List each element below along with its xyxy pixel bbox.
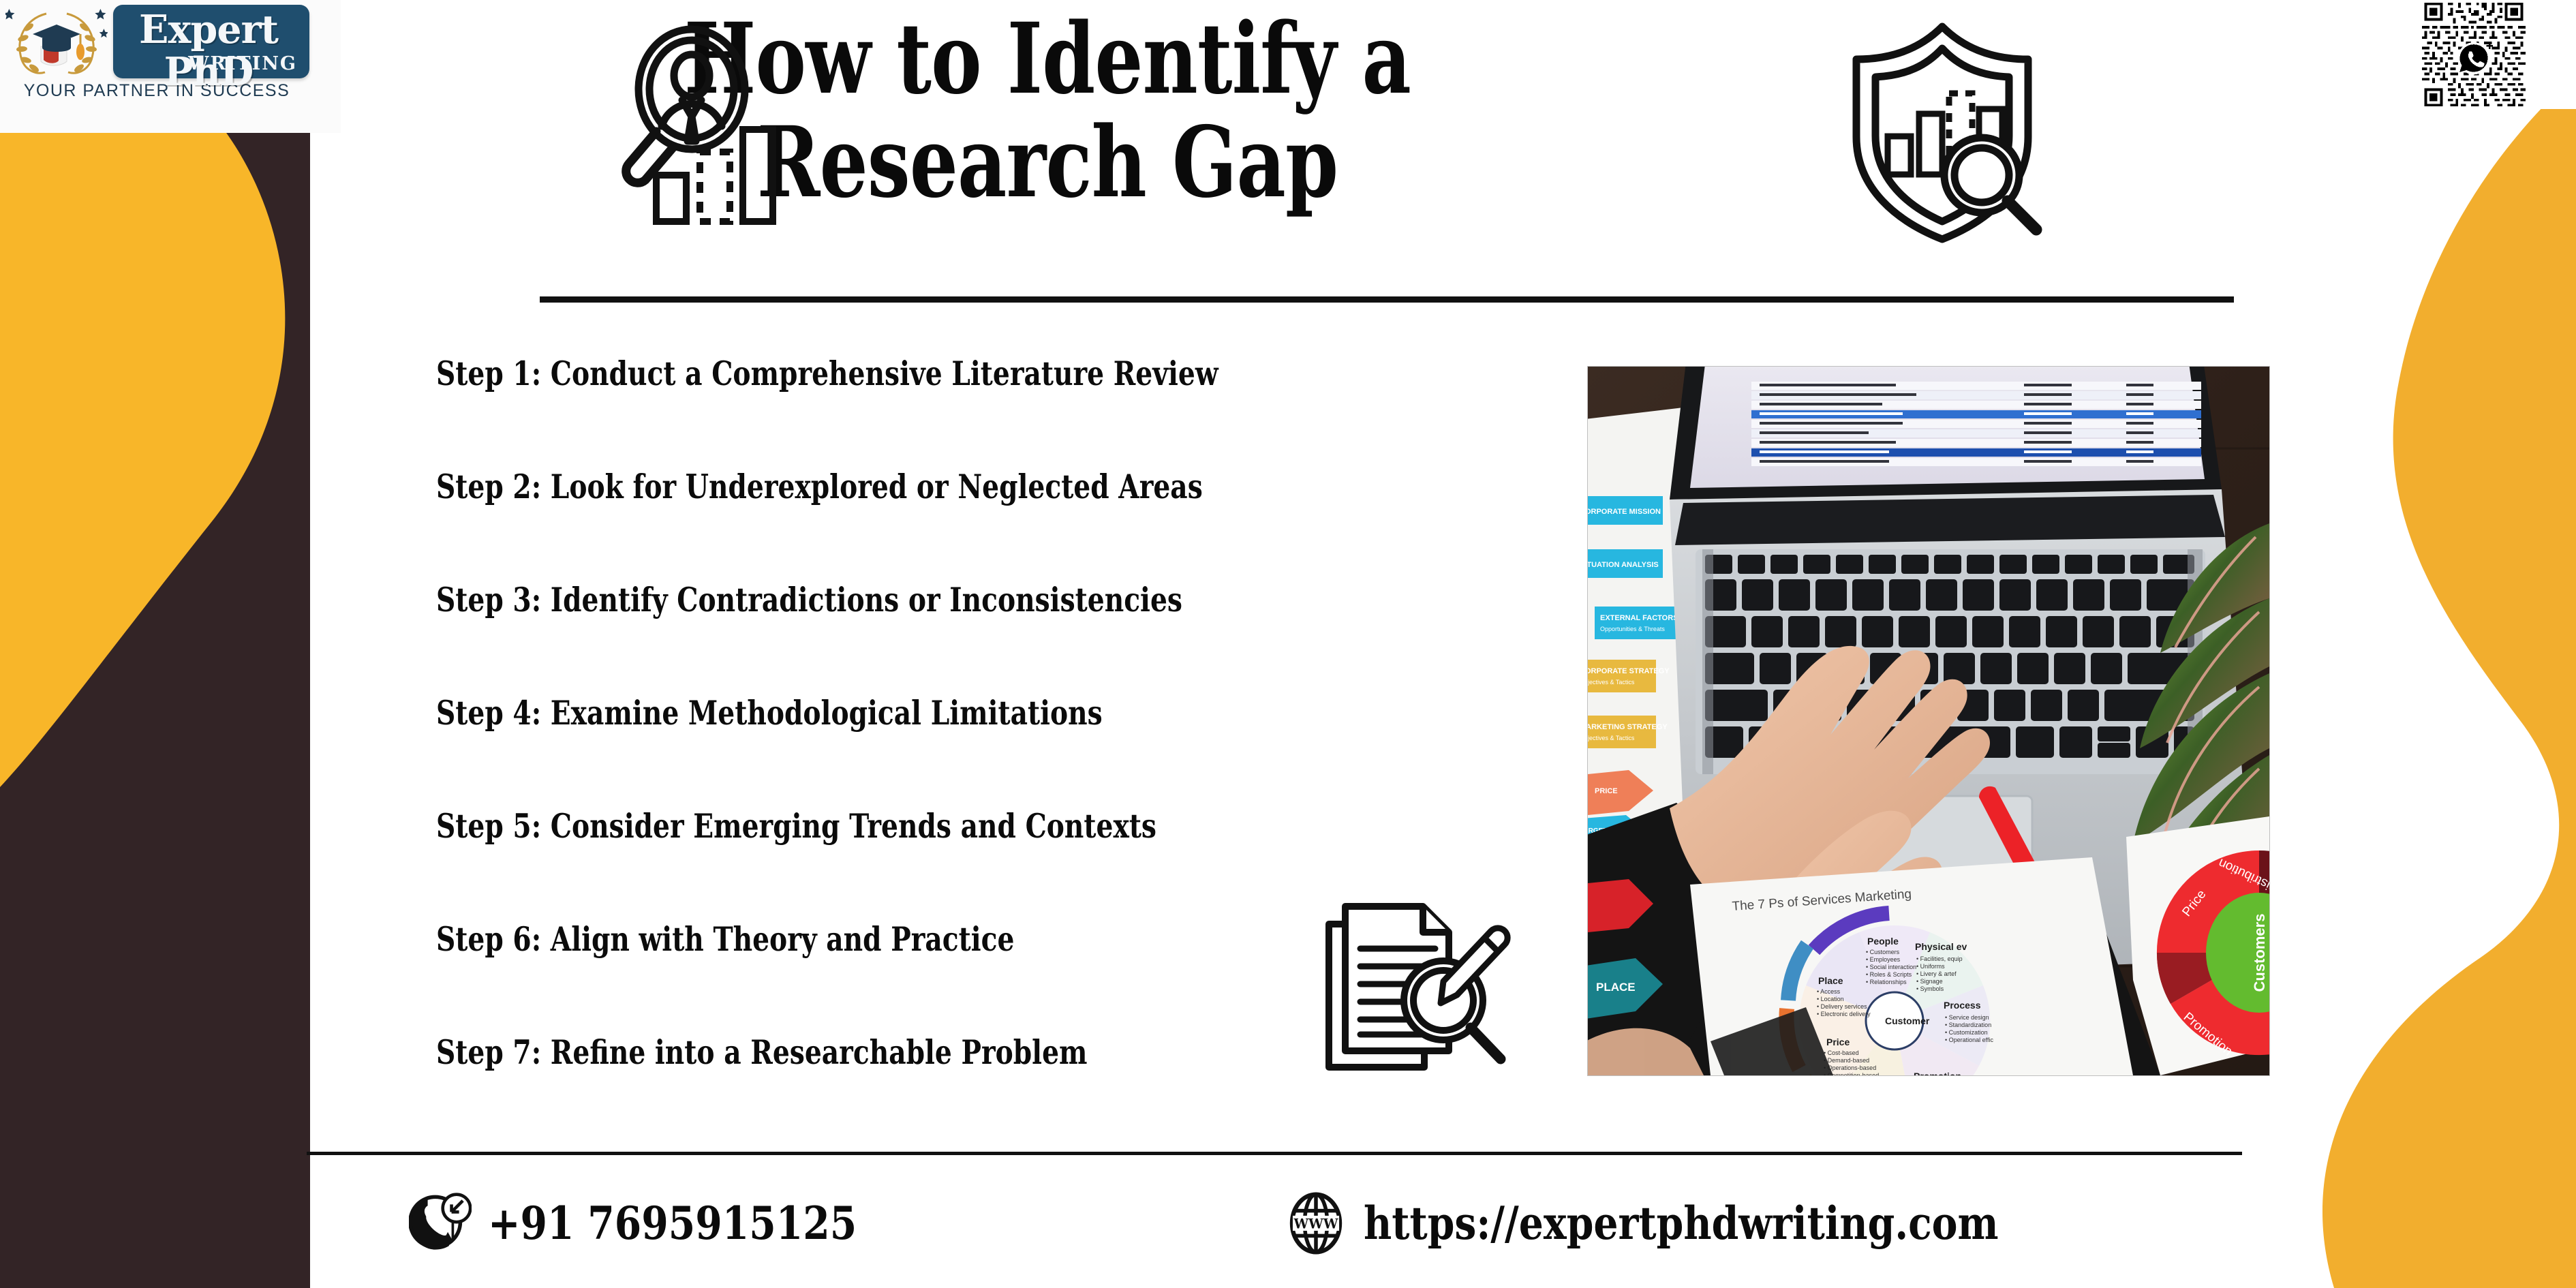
svg-text:• Social interaction: • Social interaction (1866, 964, 1916, 970)
shield-bar-chart-magnifier-icon (1833, 17, 2051, 249)
magnifier-person-bar-chart-gap-icon (617, 24, 794, 235)
graduation-cap-laurel-wreath-icon (5, 4, 108, 79)
step-item-1: Step 1: Conduct a Comprehensive Literatu… (436, 354, 1319, 467)
svg-text:• Standardization: • Standardization (1945, 1022, 1991, 1028)
svg-text:Objectives & Tactics: Objectives & Tactics (1588, 735, 1635, 741)
svg-text:Customers: Customers (2251, 914, 2268, 992)
contact-phone[interactable]: +91 7695915125 (409, 1192, 917, 1255)
svg-text:• Service design: • Service design (1945, 1014, 1989, 1021)
svg-text:MARKETING STRATEGY: MARKETING STRATEGY (1588, 723, 1668, 731)
svg-text:• Operational effic: • Operational effic (1945, 1037, 1994, 1043)
svg-text:Opportunities & Threats: Opportunities & Threats (1600, 626, 1665, 632)
globe-www-icon: WWW (1285, 1192, 1347, 1255)
svg-text:• Access: • Access (1817, 988, 1841, 995)
svg-text:• Operations-based: • Operations-based (1824, 1064, 1876, 1071)
brand-subname: WRITING (188, 53, 297, 74)
svg-text:• Livery & artef: • Livery & artef (1916, 970, 1957, 977)
svg-text:Place: Place (1818, 975, 1843, 986)
svg-text:• Facilities, equip: • Facilities, equip (1916, 955, 1963, 962)
svg-text:Promotion: Promotion (1914, 1071, 1961, 1075)
svg-text:• Uniforms: • Uniforms (1916, 963, 1945, 970)
title-divider (540, 296, 2234, 303)
step-item-3: Step 3: Identify Contradictions or Incon… (436, 581, 1319, 694)
svg-text:• Delivery services: • Delivery services (1817, 1003, 1867, 1010)
step-item-5: Step 5: Consider Emerging Trends and Con… (436, 807, 1319, 920)
svg-text:• Cost-based: • Cost-based (1824, 1049, 1859, 1056)
svg-text:WWW: WWW (1293, 1216, 1338, 1231)
svg-text:PLACE: PLACE (1596, 981, 1636, 994)
contact-website[interactable]: WWW https://expertphdwriting.com (1285, 1192, 2102, 1255)
brand-name: Expert PhD (113, 9, 304, 93)
svg-text:• Customers: • Customers (1866, 949, 1900, 955)
step-item-4: Step 4: Examine Methodological Limitatio… (436, 694, 1319, 807)
svg-text:• Demand-based: • Demand-based (1824, 1057, 1869, 1064)
svg-text:Price: Price (1826, 1037, 1850, 1047)
step-item-6: Step 6: Align with Theory and Practice (436, 920, 1319, 1033)
svg-text:People: People (1867, 936, 1899, 947)
svg-text:CORPORATE MISSION: CORPORATE MISSION (1588, 508, 1661, 516)
footer: +91 7695915125 WWW https://expertphdwrit… (307, 1159, 2283, 1288)
svg-text:CORPORATE STRATEGY: CORPORATE STRATEGY (1588, 667, 1670, 675)
brand-logo[interactable]: Expert PhD WRITING YOUR PARTNER IN SUCCE… (0, 0, 341, 133)
step-item-7: Step 7: Refine into a Researchable Probl… (436, 1033, 1319, 1146)
svg-text:• Relationships: • Relationships (1866, 979, 1907, 985)
desk-laptop-photo: CORPORATE MISSION SITUATION ANALYSIS EXT… (1588, 367, 2269, 1075)
svg-text:Objectives & Tactics: Objectives & Tactics (1588, 679, 1635, 686)
step-item-2: Step 2: Look for Underexplored or Neglec… (436, 467, 1319, 581)
svg-text:• Symbols: • Symbols (1916, 985, 1944, 992)
incoming-call-icon (409, 1192, 472, 1255)
svg-text:• Customization: • Customization (1945, 1029, 1988, 1036)
svg-text:EXTERNAL FACTORS: EXTERNAL FACTORS (1600, 614, 1678, 622)
svg-text:SITUATION ANALYSIS: SITUATION ANALYSIS (1588, 561, 1659, 569)
svg-text:• Location: • Location (1817, 996, 1844, 1002)
svg-text:Customer: Customer (1885, 1015, 1930, 1026)
svg-text:Process: Process (1944, 1000, 1981, 1011)
svg-text:• Electronic delivery: • Electronic delivery (1817, 1011, 1871, 1017)
phone-number: +91 7695915125 (488, 1197, 857, 1250)
documents-magnifier-pencil-icon (1315, 886, 1513, 1077)
svg-text:PRICE: PRICE (1595, 787, 1618, 795)
svg-text:• Employees: • Employees (1866, 956, 1901, 963)
svg-text:• Roles & Scripts: • Roles & Scripts (1866, 971, 1912, 978)
brand-plate: Expert PhD WRITING (113, 5, 309, 78)
svg-text:• Signage: • Signage (1916, 978, 1943, 985)
footer-divider (307, 1152, 2242, 1155)
whatsapp-qr-code[interactable] (2372, 0, 2576, 109)
svg-text:Physical ev: Physical ev (1915, 941, 1967, 952)
website-url: https://expertphdwriting.com (1364, 1197, 1999, 1250)
page-title: How to Identify a Research Gap (199, 7, 1896, 214)
